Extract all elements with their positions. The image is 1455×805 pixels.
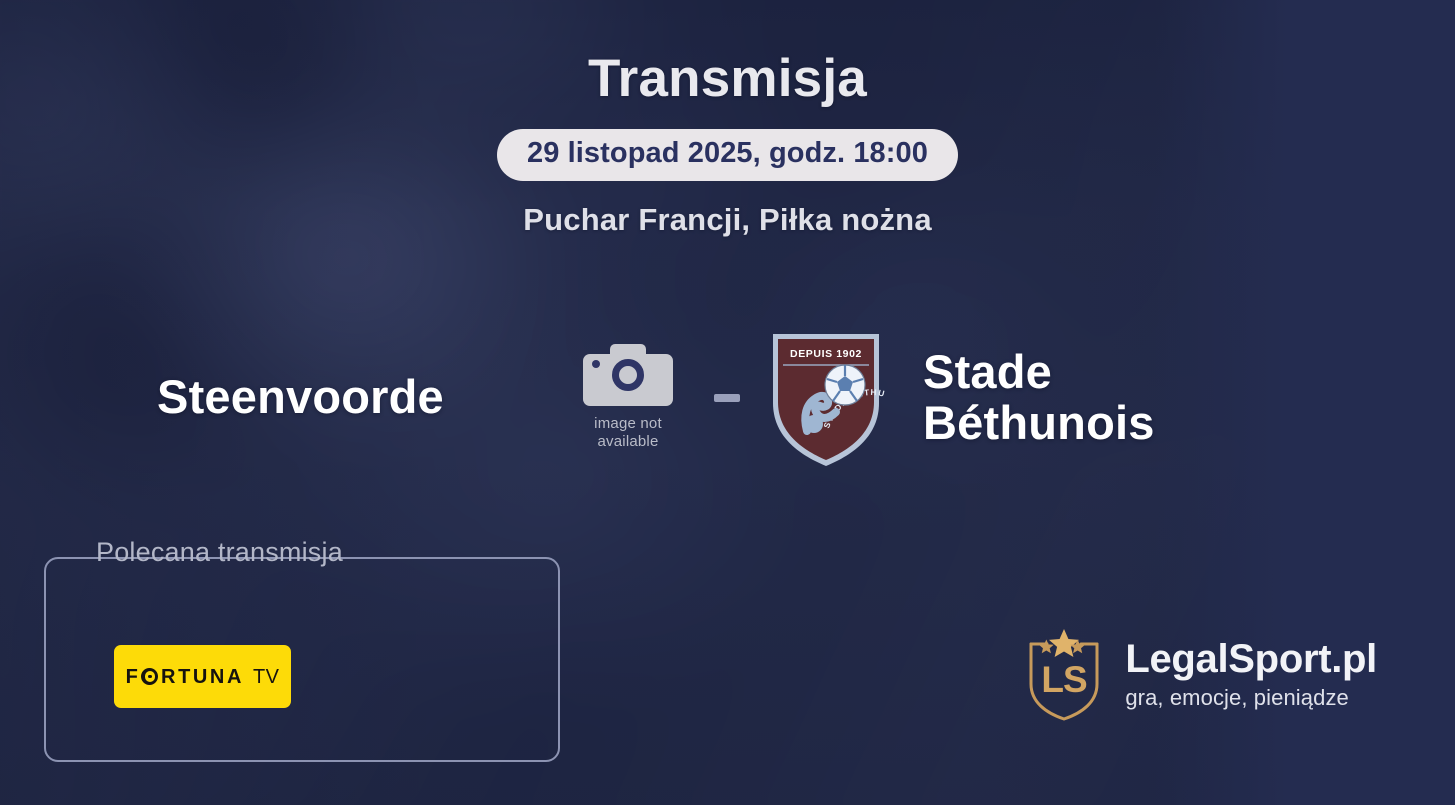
image-placeholder-line1: image not — [573, 415, 683, 433]
camera-lens-icon — [612, 359, 644, 391]
competition-label: Puchar Francji, Piłka nożna — [0, 202, 1455, 238]
away-team-name: Stade Béthunois — [901, 347, 1261, 449]
fortuna-wordmark: F RTUNA — [126, 667, 244, 687]
camera-viewfinder-dot — [592, 360, 600, 368]
match-datetime-badge: 29 listopad 2025, godz. 18:00 — [497, 129, 958, 181]
header: Transmisja 29 listopad 2025, godz. 18:00… — [0, 0, 1455, 238]
broadcast-promo-card: Transmisja 29 listopad 2025, godz. 18:00… — [0, 0, 1455, 805]
page-title: Transmisja — [0, 51, 1455, 107]
away-team-logo-slot: DEPUIS 1902 STADE BETHUNOIS FOOTBALL CLU… — [751, 318, 901, 478]
home-team-name: Steenvoorde — [133, 372, 553, 423]
fortuna-letters-rest: RTUNA — [161, 667, 244, 687]
brand-tagline: gra, emocje, pieniądze — [1125, 685, 1377, 710]
camera-icon — [583, 344, 673, 406]
ls-shield-icon: LS — [1025, 626, 1103, 722]
fortuna-letter-f: F — [126, 667, 141, 687]
shield-initials: LS — [1042, 659, 1088, 700]
image-placeholder-text: image not available — [573, 415, 683, 452]
brand-text: LegalSport.pl gra, emocje, pieniądze — [1125, 638, 1377, 710]
recommended-broadcast-box: Polecana transmisja F RTUNA TV — [44, 557, 560, 762]
recommended-broadcast-legend: Polecana transmisja — [84, 539, 355, 566]
match-row: Steenvoorde image not available — [0, 300, 1455, 495]
away-team: DEPUIS 1902 STADE BETHUNOIS FOOTBALL CLU… — [751, 318, 1455, 478]
image-placeholder: image not available — [573, 344, 683, 452]
image-placeholder-line2: available — [573, 433, 683, 451]
fortuna-tv-button[interactable]: F RTUNA TV — [114, 645, 291, 708]
crest-founded-text: DEPUIS 1902 — [790, 348, 862, 360]
fortuna-tv-suffix: TV — [253, 667, 279, 687]
stade-bethunois-crest-icon: DEPUIS 1902 STADE BETHUNOIS FOOTBALL CLU… — [767, 328, 885, 468]
star-center-icon — [1049, 629, 1079, 657]
home-team-logo-slot: image not available — [553, 318, 703, 478]
legalsport-brand[interactable]: LS LegalSport.pl gra, emocje, pieniądze — [1025, 626, 1377, 722]
fortuna-o-icon — [141, 668, 158, 685]
score-separator — [714, 394, 740, 402]
brand-name: LegalSport.pl — [1125, 638, 1377, 681]
crest-player-head — [805, 415, 823, 433]
home-team: Steenvoorde image not available — [0, 318, 703, 478]
